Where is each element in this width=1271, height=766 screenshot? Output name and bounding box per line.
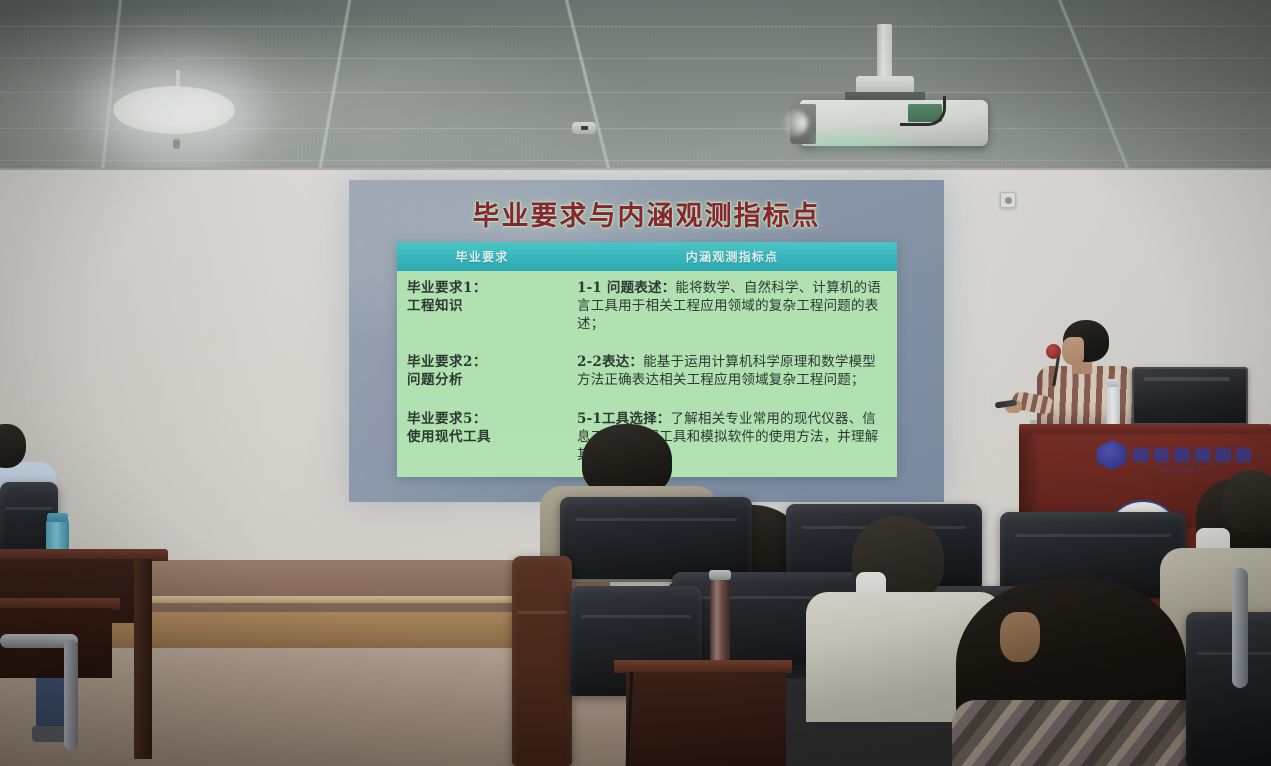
cell-requirement: 毕业要求1： 工程知识 [397,271,567,345]
requirement-sublabel: 问题分析 [407,372,559,390]
indicator-lead: 2-2表达： [577,354,643,370]
projector-mount-pole [877,24,892,80]
requirement-label: 毕业要求1： [407,280,559,298]
podium-university-name [1133,446,1251,464]
audience-floral-garment [952,700,1220,766]
column-header-indicator: 内涵观测指标点 [567,242,897,271]
projector-indicator-glow [812,128,932,154]
requirement-label: 毕业要求5： [407,411,559,429]
cell-indicator: 1-1 问题表述：能将数学、自然科学、计算机的语言工具用于相关工程应用领域的复杂… [567,271,897,345]
cell-requirement: 毕业要求5： 使用现代工具 [397,402,567,476]
requirement-label: 毕业要求2： [407,354,559,372]
ceiling-light-icon [113,86,235,134]
seat[interactable] [560,497,752,579]
chair-armrest [64,640,78,750]
slide-title: 毕业要求与内涵观测指标点 [349,194,944,233]
thermos-flask-cap [709,570,731,580]
water-bottle-cap [1107,379,1119,387]
chair-armrest [1232,568,1248,688]
audience-head [1222,470,1271,532]
laptop-screen-glint [1144,377,1230,381]
wall-sensor-icon [1000,192,1016,208]
seat[interactable] [1186,612,1271,766]
audience-ear [1000,612,1040,662]
lecture-hall-scene: 毕业要求与内涵观测指标点 毕业要求 内涵观测指标点 毕业要求1： 工程知识 1-… [0,0,1271,766]
requirement-sublabel: 工程知识 [407,298,559,316]
table-row: 毕业要求2： 问题分析 2-2表达：能基于运用计算机科学原理和数学模型方法正确表… [397,345,897,402]
sprinkler-icon [173,140,180,149]
cell-indicator: 2-2表达：能基于运用计算机科学原理和数学模型方法正确表达相关工程应用领域复杂工… [567,345,897,402]
column-header-requirement: 毕业要求 [397,242,567,271]
water-bottle [1106,385,1120,427]
laptop-screen[interactable] [1132,367,1248,425]
table-header-row: 毕业要求 内涵观测指标点 [397,242,897,271]
indicator-lead: 1-1 问题表述： [577,280,675,296]
smoke-detector-icon [572,122,596,134]
projector-cable [900,96,946,126]
requirement-sublabel: 使用现代工具 [407,429,559,447]
table-row: 毕业要求1： 工程知识 1-1 问题表述：能将数学、自然科学、计算机的语言工具用… [397,271,897,345]
speaker-torso [1037,366,1135,428]
desk-front [626,672,786,766]
thermos-cup-lid [47,513,68,522]
thermos-flask [710,578,730,662]
speaker-face [1062,337,1084,365]
seat-frame [512,556,572,766]
microphone-icon[interactable] [1046,344,1061,359]
cell-requirement: 毕业要求2： 问题分析 [397,345,567,402]
slide-next-icon[interactable]: › [667,468,713,486]
projector-lens-beam [782,110,808,136]
desk-leg [134,559,152,759]
